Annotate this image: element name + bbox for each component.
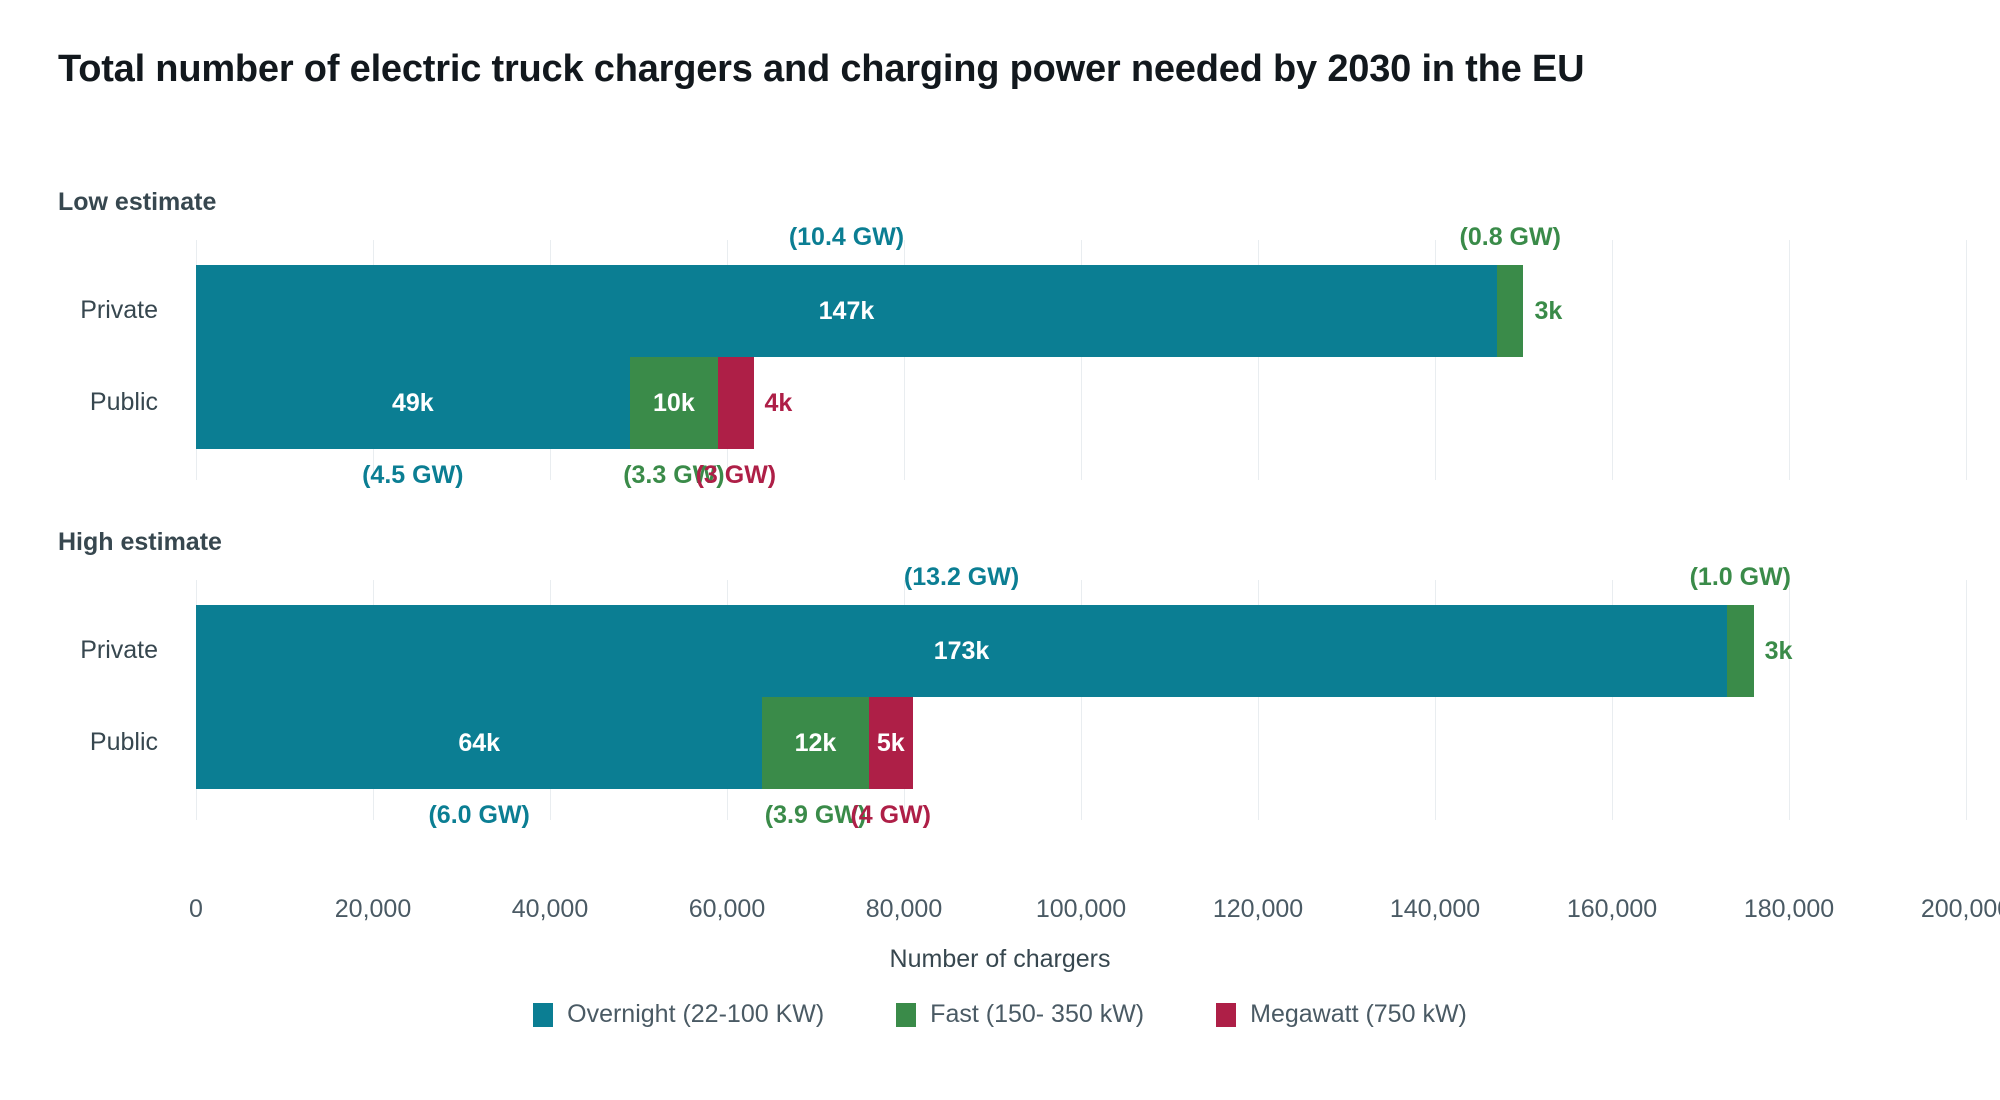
x-axis-title: Number of chargers [0, 945, 2000, 974]
x-axis-ticks: 020,00040,00060,00080,000100,000120,0001… [196, 895, 1966, 929]
x-tick-label: 200,000 [1921, 895, 2000, 924]
x-tick-label: 0 [189, 895, 203, 924]
x-tick-label: 140,000 [1390, 895, 1480, 924]
plot-area: (13.2 GW)(1.0 GW)Private173k3k(6.0 GW)(3… [196, 580, 1966, 820]
bar-row: Private147k3k [196, 265, 1966, 357]
bar-segment-fast[interactable]: 3k [1497, 265, 1524, 357]
legend-swatch-icon [896, 1003, 916, 1027]
x-tick-label: 20,000 [335, 895, 411, 924]
x-tick-label: 60,000 [689, 895, 765, 924]
segment-value-label: 3k [1534, 299, 1562, 324]
panel-title: Low estimate [58, 188, 216, 217]
segment-value-label: 12k [795, 731, 837, 756]
category-label-private: Private [0, 636, 176, 665]
legend-label: Overnight (22-100 KW) [567, 1000, 824, 1029]
x-tick-label: 40,000 [512, 895, 588, 924]
legend-swatch-icon [1216, 1003, 1236, 1027]
segment-value-label: 147k [819, 299, 875, 324]
bar-segment-megawatt[interactable]: 5k [869, 697, 913, 789]
x-tick-label: 120,000 [1213, 895, 1303, 924]
panel-title: High estimate [58, 528, 222, 557]
legend-label: Fast (150- 350 kW) [930, 1000, 1144, 1029]
bar-row: Public49k10k4k [196, 357, 1966, 449]
bar-segment-fast[interactable]: 12k [762, 697, 868, 789]
bar-segment-overnight[interactable]: 64k [196, 697, 762, 789]
category-label-public: Public [0, 388, 176, 417]
x-tick-label: 100,000 [1036, 895, 1126, 924]
legend-item[interactable]: Overnight (22-100 KW) [533, 1000, 824, 1029]
bar-segment-megawatt[interactable]: 4k [718, 357, 753, 449]
bar-segment-fast[interactable]: 10k [630, 357, 719, 449]
power-annotation: (3 GW) [696, 461, 777, 490]
legend-swatch-icon [533, 1003, 553, 1027]
bar-segment-overnight[interactable]: 49k [196, 357, 630, 449]
chart-legend: Overnight (22-100 KW)Fast (150- 350 kW)M… [0, 1000, 2000, 1029]
x-tick-label: 160,000 [1567, 895, 1657, 924]
legend-label: Megawatt (750 kW) [1250, 1000, 1467, 1029]
segment-value-label: 5k [877, 731, 905, 756]
segment-value-label: 4k [765, 391, 793, 416]
segment-value-label: 64k [458, 731, 500, 756]
segment-value-label: 10k [653, 391, 695, 416]
bar-row: Public64k12k5k [196, 697, 1966, 789]
x-tick-label: 80,000 [866, 895, 942, 924]
power-annotation: (0.8 GW) [1460, 223, 1561, 252]
page-title: Total number of electric truck chargers … [58, 48, 1584, 91]
bar-segment-overnight[interactable]: 173k [196, 605, 1727, 697]
power-annotation: (13.2 GW) [904, 563, 1019, 592]
segment-value-label: 173k [934, 639, 990, 664]
plot-area: (10.4 GW)(0.8 GW)Private147k3k(4.5 GW)(3… [196, 240, 1966, 480]
category-label-public: Public [0, 728, 176, 757]
power-annotation: (10.4 GW) [789, 223, 904, 252]
power-annotation: (4.5 GW) [362, 461, 463, 490]
chart-root: Total number of electric truck chargers … [0, 0, 2000, 1100]
legend-item[interactable]: Fast (150- 350 kW) [896, 1000, 1144, 1029]
power-annotation: (6.0 GW) [428, 801, 529, 830]
gridline [1966, 580, 1967, 820]
power-annotation: (4 GW) [850, 801, 931, 830]
bar-row: Private173k3k [196, 605, 1966, 697]
segment-value-label: 3k [1765, 639, 1793, 664]
x-tick-label: 180,000 [1744, 895, 1834, 924]
legend-item[interactable]: Megawatt (750 kW) [1216, 1000, 1467, 1029]
power-annotation: (1.0 GW) [1690, 563, 1791, 592]
bar-segment-overnight[interactable]: 147k [196, 265, 1497, 357]
category-label-private: Private [0, 296, 176, 325]
bar-segment-fast[interactable]: 3k [1727, 605, 1754, 697]
segment-value-label: 49k [392, 391, 434, 416]
gridline [1966, 240, 1967, 480]
